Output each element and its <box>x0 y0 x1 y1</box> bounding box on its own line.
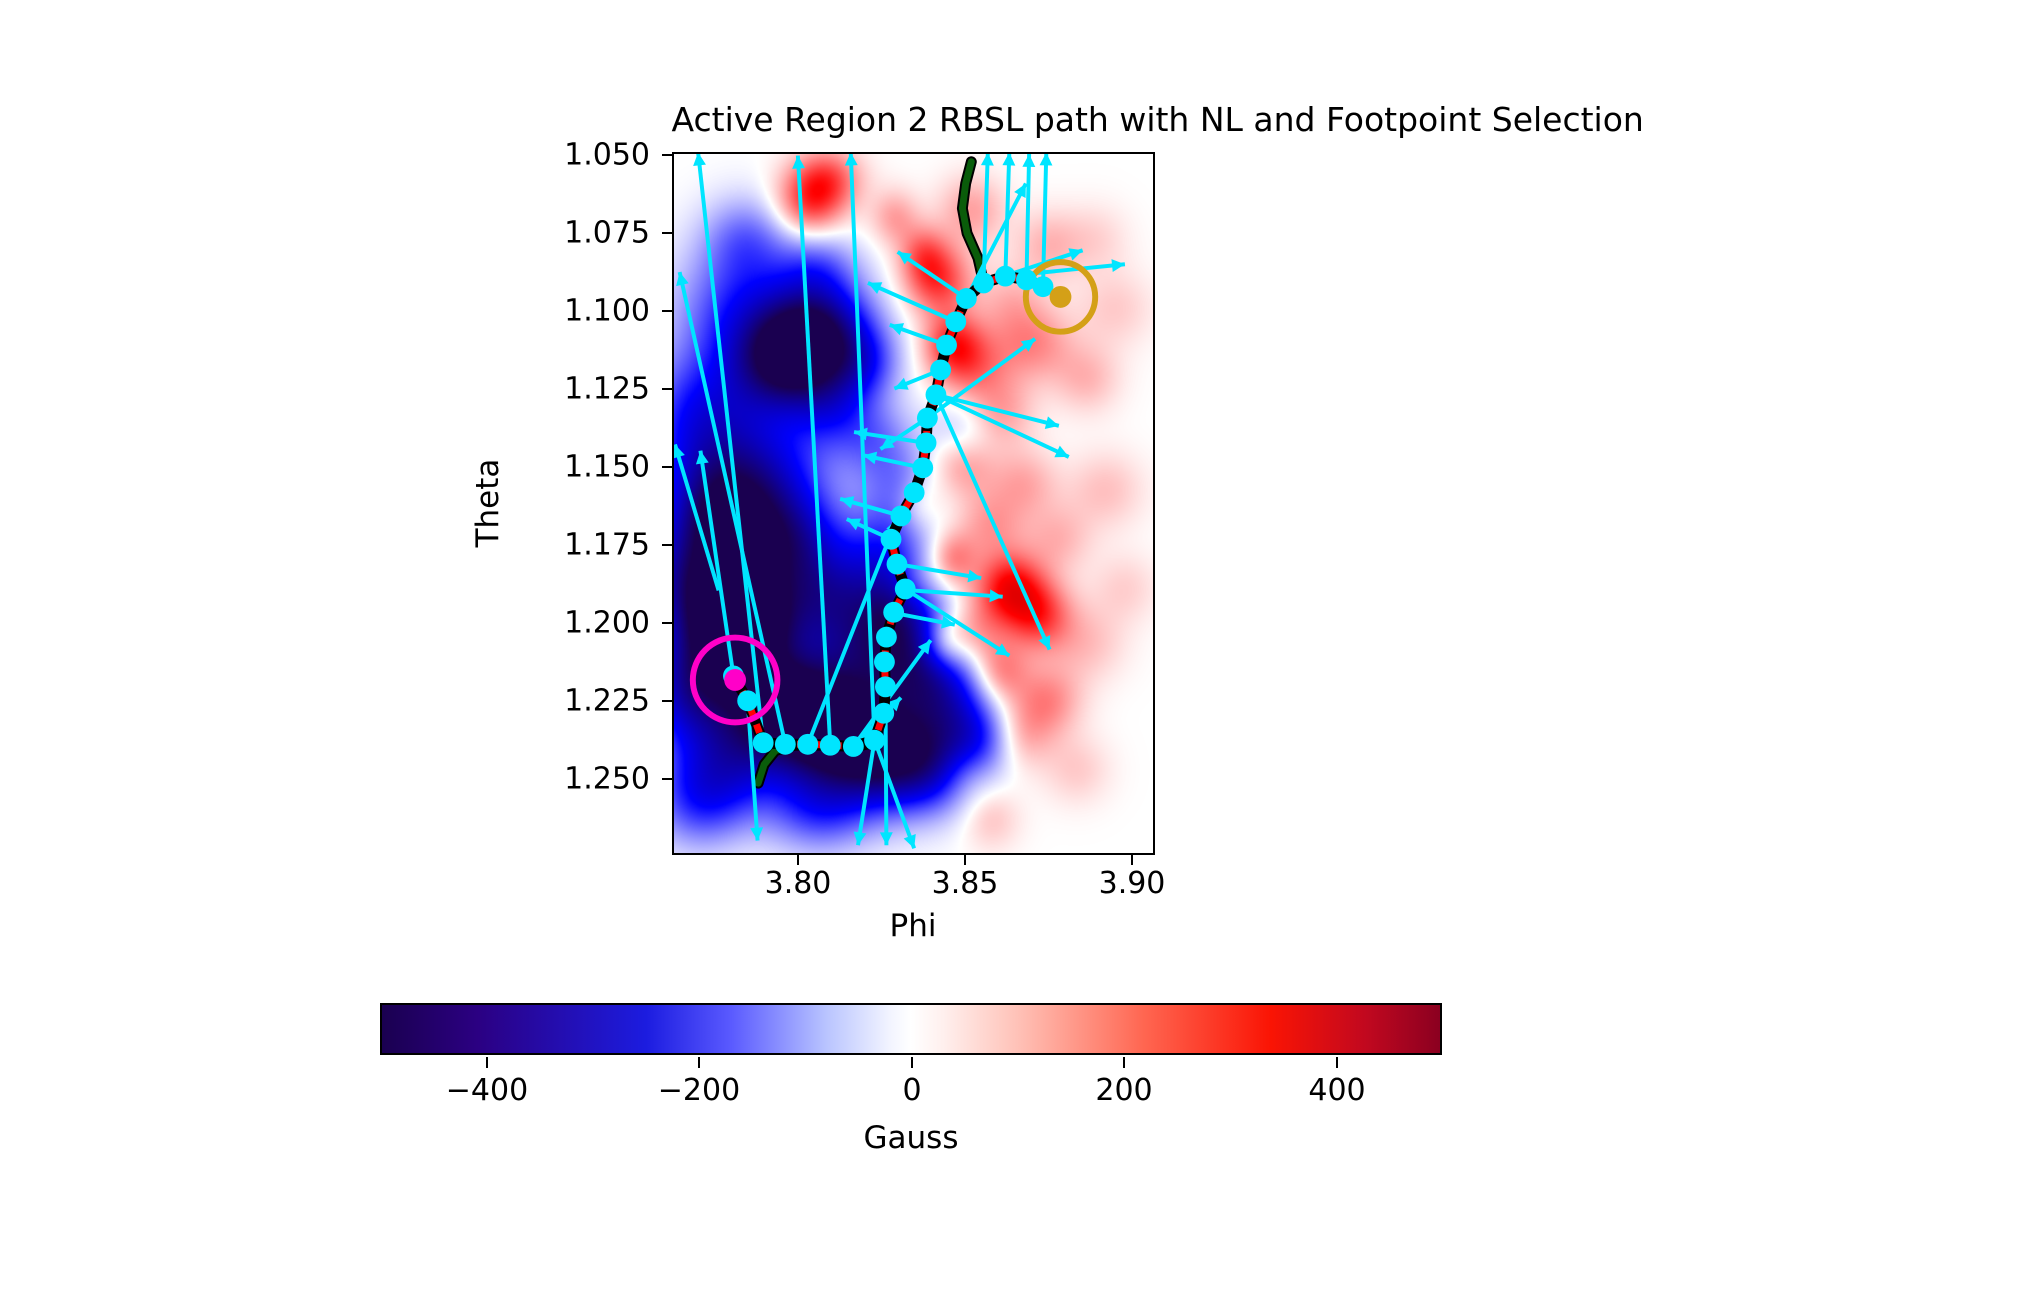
field-vector-arrowhead <box>693 154 706 166</box>
rbsl-path-marker[interactable] <box>945 311 966 332</box>
rbsl-path-marker[interactable] <box>930 359 951 380</box>
ytick-mark <box>662 778 672 780</box>
cbtick-label: −400 <box>446 1073 528 1108</box>
field-vector-arrowhead <box>792 156 805 169</box>
ytick-label: 1.125 <box>500 372 650 407</box>
field-vector-arrow <box>936 395 1050 650</box>
field-vector-arrowhead <box>981 154 994 166</box>
field-vector-arrowhead <box>845 154 858 166</box>
field-vector-arrowhead <box>1111 259 1124 272</box>
rbsl-path-marker[interactable] <box>843 736 864 757</box>
field-vector-arrow <box>1026 154 1029 280</box>
cbtick-mark <box>698 1057 700 1068</box>
rbsl-path-marker[interactable] <box>737 690 758 711</box>
xtick-label: 3.80 <box>765 866 832 901</box>
x-axis-label: Phi <box>890 908 937 944</box>
xtick-mark <box>1131 855 1133 865</box>
field-vector-arrowhead <box>880 832 893 845</box>
rbsl-path-marker[interactable] <box>820 735 841 756</box>
rbsl-path-marker[interactable] <box>887 554 908 575</box>
xtick-mark <box>964 855 966 865</box>
neutral-line <box>962 162 983 283</box>
ytick-mark <box>662 388 672 390</box>
page-title: Active Region 2 RBSL path with NL and Fo… <box>672 100 1155 139</box>
cbtick-mark <box>1123 1057 1125 1068</box>
field-vector-arrow <box>875 740 915 848</box>
rbsl-path-marker[interactable] <box>973 272 994 293</box>
negative-footpoint-dot[interactable] <box>724 669 746 691</box>
cbtick-label: 0 <box>902 1073 921 1108</box>
cbtick-label: 200 <box>1095 1073 1152 1108</box>
field-vector-arrowhead <box>1040 154 1053 166</box>
ytick-mark <box>662 466 672 468</box>
rbsl-path-marker[interactable] <box>904 482 925 503</box>
field-vector-arrowhead <box>1002 154 1015 166</box>
xtick-mark <box>797 855 799 865</box>
field-vector-arrow <box>858 740 875 845</box>
rbsl-path-marker[interactable] <box>753 732 774 753</box>
ytick-label: 1.200 <box>500 606 650 641</box>
ytick-label: 1.175 <box>500 528 650 563</box>
rbsl-path-marker[interactable] <box>883 602 904 623</box>
rbsl-path-marker[interactable] <box>875 676 896 697</box>
field-vector-arrowhead <box>1022 154 1035 167</box>
ytick-mark <box>662 700 672 702</box>
rbsl-path-marker[interactable] <box>873 703 894 724</box>
magnetogram-plot <box>672 152 1155 855</box>
ytick-mark <box>662 544 672 546</box>
field-vector-arrowhead <box>676 272 689 286</box>
rbsl-path-marker[interactable] <box>797 734 818 755</box>
rbsl-path-marker[interactable] <box>891 505 912 526</box>
xtick-label: 3.85 <box>932 866 999 901</box>
rbsl-path-marker[interactable] <box>895 578 916 599</box>
ytick-label: 1.050 <box>500 138 650 173</box>
rbsl-path-marker[interactable] <box>864 730 885 751</box>
xtick-label: 3.90 <box>1099 866 1166 901</box>
ytick-label: 1.150 <box>500 450 650 485</box>
colorbar <box>380 1003 1442 1055</box>
ytick-label: 1.100 <box>500 294 650 329</box>
rbsl-path-marker[interactable] <box>881 529 902 550</box>
colorbar-label: Gauss <box>864 1120 959 1156</box>
field-vector-arrowhead <box>863 452 877 465</box>
positive-footpoint-dot[interactable] <box>1050 286 1072 308</box>
cbtick-mark <box>911 1057 913 1068</box>
rbsl-path-marker[interactable] <box>874 651 895 672</box>
field-vector-arrowhead <box>674 444 685 458</box>
rbsl-path-marker[interactable] <box>916 432 937 453</box>
rbsl-path-marker[interactable] <box>917 408 938 429</box>
rbsl-path-marker[interactable] <box>926 384 947 405</box>
ytick-mark <box>662 310 672 312</box>
ytick-label: 1.250 <box>500 762 650 797</box>
rbsl-path-marker[interactable] <box>936 335 957 356</box>
ytick-mark <box>662 622 672 624</box>
rbsl-path-marker[interactable] <box>956 288 977 309</box>
ytick-mark <box>662 154 672 156</box>
cbtick-label: −200 <box>658 1073 740 1108</box>
cbtick-label: 400 <box>1308 1073 1365 1108</box>
field-vector-arrow <box>798 156 830 746</box>
rbsl-path-marker[interactable] <box>912 457 933 478</box>
field-vector-arrowhead <box>1068 248 1082 260</box>
colorbar-gradient <box>380 1003 1442 1055</box>
cbtick-mark <box>1336 1057 1338 1068</box>
rbsl-path-marker[interactable] <box>995 266 1016 287</box>
field-vector-arrow <box>868 283 956 322</box>
ytick-label: 1.225 <box>500 684 650 719</box>
field-vector-arrow <box>851 154 875 740</box>
ytick-label: 1.075 <box>500 216 650 251</box>
figure-canvas: Active Region 2 RBSL path with NL and Fo… <box>0 0 2031 1295</box>
y-axis-label: Theta <box>470 459 506 548</box>
field-vector-arrowhead <box>989 589 1002 602</box>
rbsl-path-marker[interactable] <box>775 734 796 755</box>
cbtick-mark <box>486 1057 488 1068</box>
rbsl-path-marker[interactable] <box>876 627 897 648</box>
field-vector-arrowhead <box>750 827 763 840</box>
ytick-mark <box>662 232 672 234</box>
overlay-layer <box>674 154 1153 853</box>
